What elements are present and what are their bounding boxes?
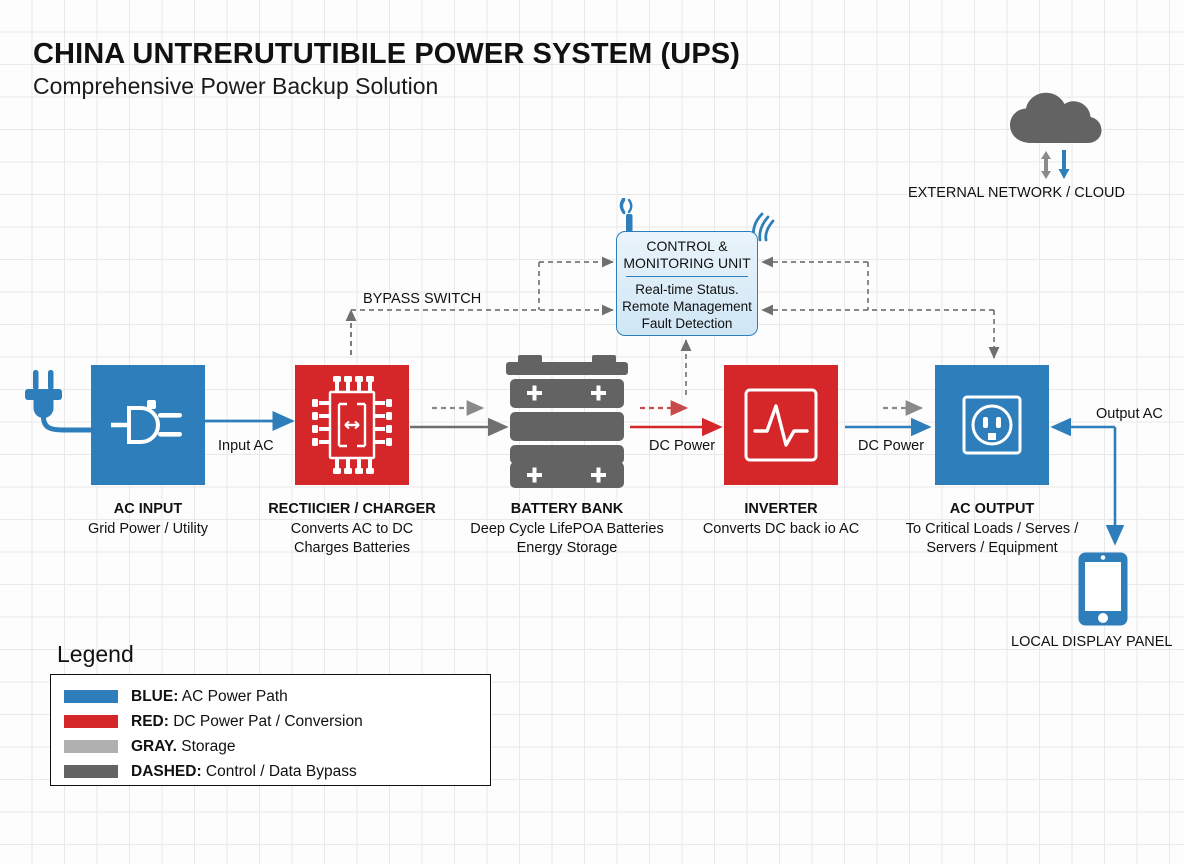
arrow-inverter-to-output [845, 396, 940, 436]
legend-text: RED: DC Power Pat / Conversion [131, 713, 363, 731]
legend-desc: DC Power Pat / Conversion [169, 713, 363, 730]
legend-text: BLUE: AC Power Path [131, 688, 288, 706]
arrow-output-ac [1045, 415, 1175, 565]
cmu-body-line-1: Real-time Status. [617, 281, 757, 298]
legend-item: GRAY. Storage [51, 734, 490, 759]
mobile-phone-icon [1077, 551, 1129, 627]
cmu-body-line-3: Fault Detection [617, 315, 757, 332]
legend-item: BLUE: AC Power Path [51, 684, 490, 709]
block-battery-bank[interactable] [504, 355, 630, 490]
waveform-icon [743, 387, 819, 463]
block-rectifier-charger[interactable] [295, 365, 409, 485]
diagram-canvas: CHINA UNTRERUTUTIBILE POWER SYSTEM (UPS)… [0, 0, 1184, 864]
label-dc-power-out: DC Power [858, 438, 924, 454]
legend-box: BLUE: AC Power Path RED: DC Power Pat / … [50, 674, 491, 786]
legend-title: Legend [57, 641, 134, 668]
label-input-ac: Input AC [218, 438, 274, 454]
power-socket-icon [961, 394, 1023, 456]
legend-text: DASHED: Control / Data Bypass [131, 763, 357, 781]
label-output-ac: Output AC [1096, 406, 1163, 422]
arrow-input-ac [204, 410, 304, 432]
block-inverter[interactable] [724, 365, 838, 485]
legend-key: RED: [131, 713, 169, 730]
label-dc-power-in: DC Power [649, 438, 715, 454]
external-plug-icon [21, 368, 96, 438]
legend-item: DASHED: Control / Data Bypass [51, 759, 490, 784]
legend-text: GRAY. Storage [131, 738, 236, 756]
legend-key: DASHED: [131, 763, 202, 780]
legend-swatch-blue [64, 690, 118, 703]
legend-key: GRAY. [131, 738, 177, 755]
legend-desc: Storage [177, 738, 236, 755]
legend-swatch-red [64, 715, 118, 728]
legend-swatch-dashed [64, 765, 118, 778]
arrow-battery-to-inverter [630, 396, 730, 436]
control-monitoring-unit[interactable]: CONTROL & MONITORING UNIT Real-time Stat… [616, 231, 758, 336]
cmu-header-line-2: MONITORING UNIT [617, 255, 757, 272]
caption-subtitle-2: Energy Storage [437, 539, 697, 558]
legend-key: BLUE: [131, 688, 178, 705]
legend-swatch-gray [64, 740, 118, 753]
battery-icon [504, 355, 630, 490]
cmu-body-line-2: Remote Management [617, 298, 757, 315]
legend-desc: Control / Data Bypass [202, 763, 357, 780]
power-plug-icon [111, 396, 185, 454]
legend-item: RED: DC Power Pat / Conversion [51, 709, 490, 734]
cmu-divider [626, 276, 748, 277]
block-ac-input[interactable] [91, 365, 205, 485]
block-ac-output[interactable] [935, 365, 1049, 485]
local-display-label: LOCAL DISPLAY PANEL [1011, 634, 1172, 650]
cmu-header-line-1: CONTROL & [617, 238, 757, 255]
microchip-icon [304, 374, 400, 476]
bypass-switch-label: BYPASS SWITCH [363, 291, 481, 307]
legend-desc: AC Power Path [178, 688, 287, 705]
